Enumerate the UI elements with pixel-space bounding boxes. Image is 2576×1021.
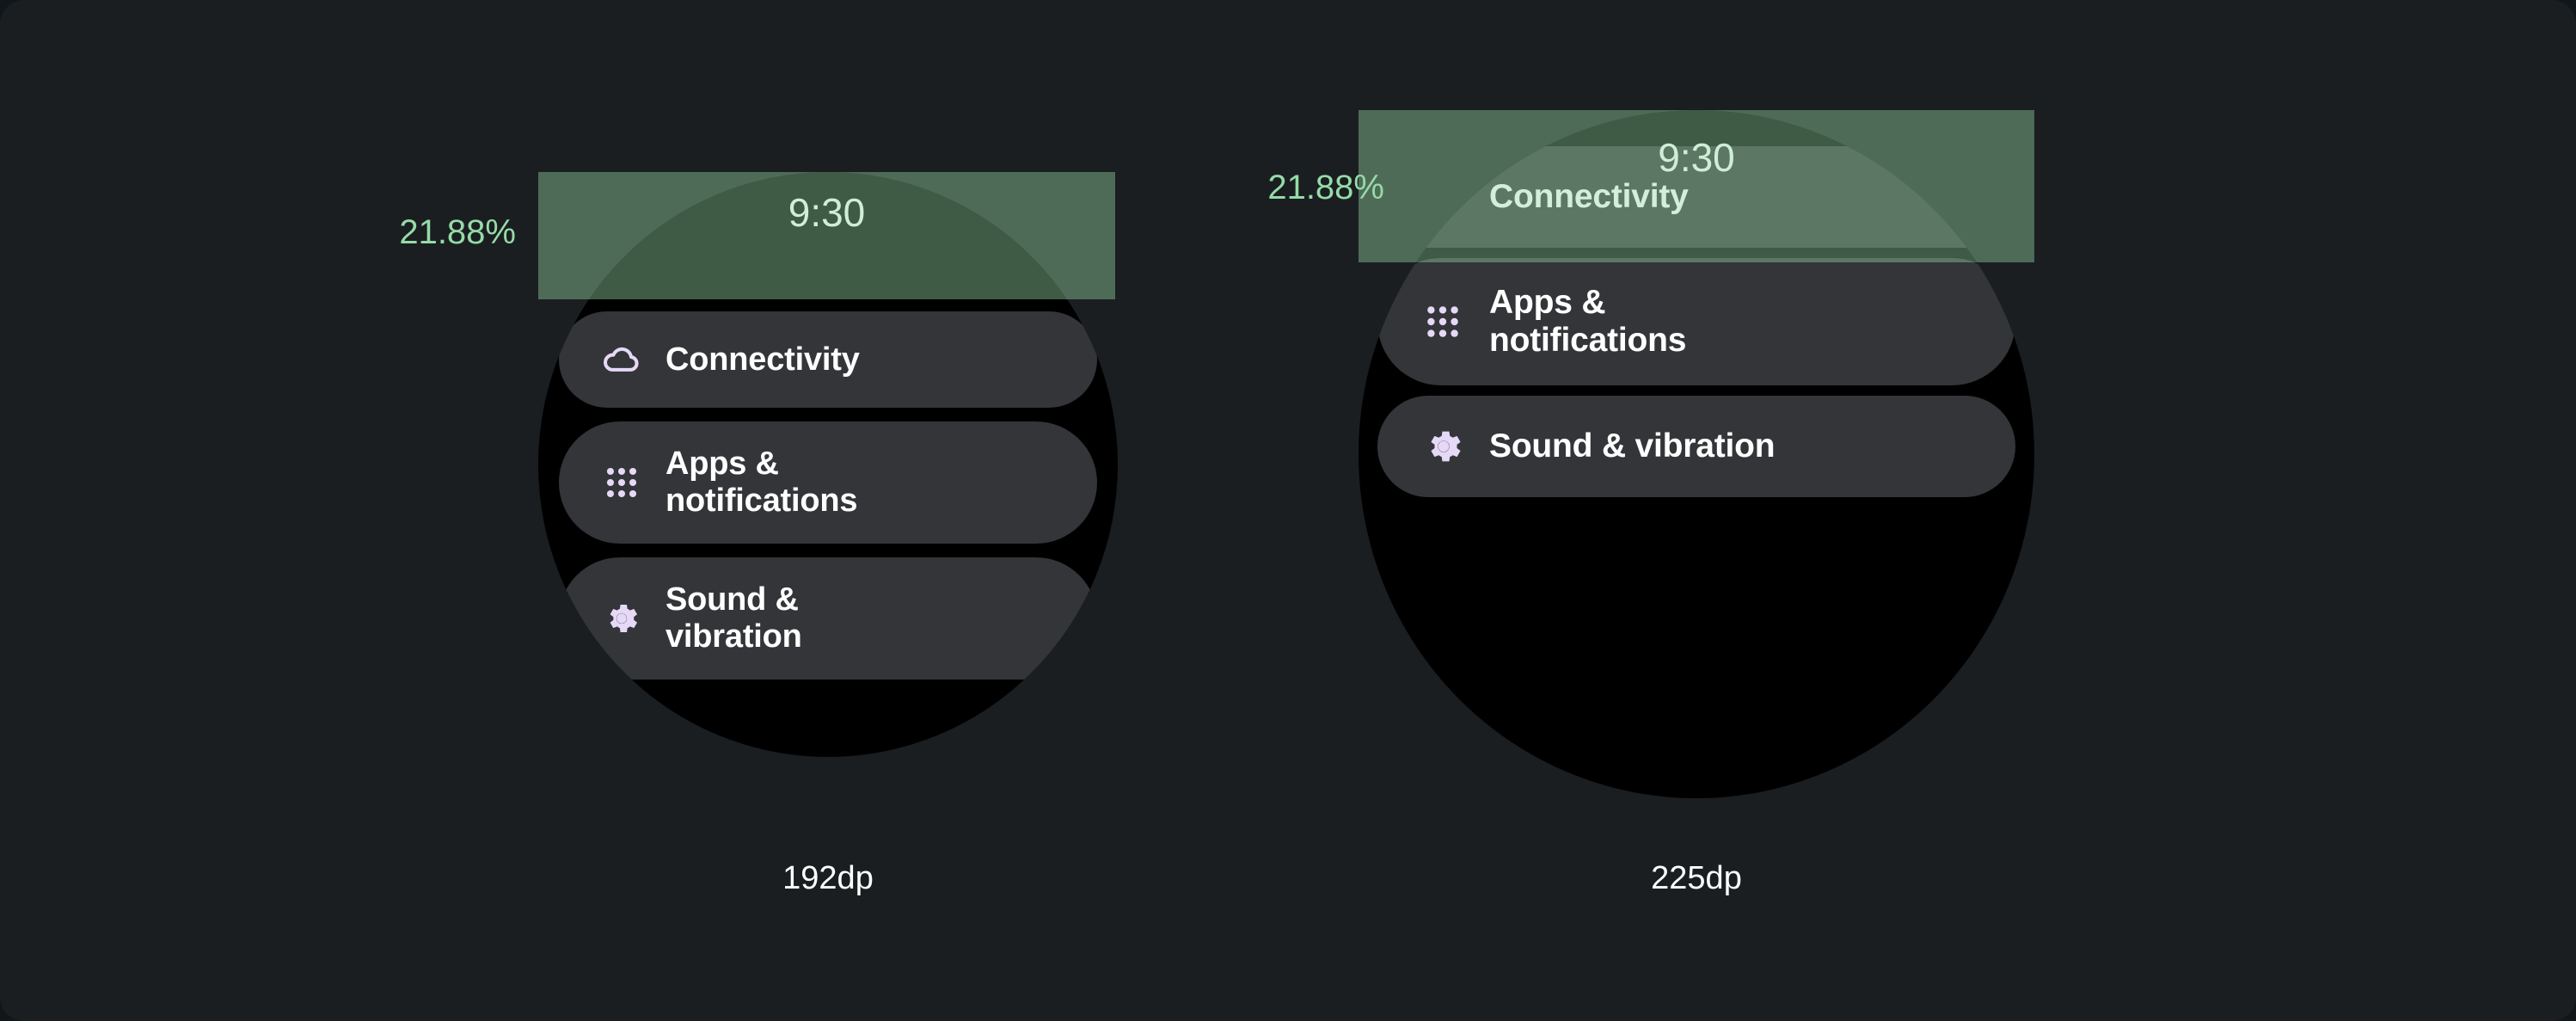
list-item-label: Connectivity: [665, 341, 860, 378]
settings-list-225: Connectivity: [1359, 110, 2034, 798]
list-item-sound-vibration[interactable]: Sound & vibration: [1377, 396, 2015, 497]
apps-grid-icon: [602, 463, 641, 502]
watch-stage-225: Connectivity: [1359, 110, 2034, 798]
gear-icon: [602, 599, 641, 638]
list-item-label: Connectivity: [1489, 178, 1689, 216]
watch-stage-192: Connectivity: [538, 172, 1118, 757]
watch-body-192: Connectivity: [538, 172, 1118, 757]
list-item-label: Apps & notifications: [1489, 284, 1686, 359]
list-item-apps-notifications[interactable]: Apps & notifications: [559, 421, 1097, 544]
watch-specimen-192: 21.88% Connectivity: [0, 0, 1290, 1021]
gear-icon: [1422, 425, 1465, 468]
size-label-192: 192dp: [656, 860, 1000, 897]
size-label-225: 225dp: [1524, 860, 1868, 897]
watch-specimen-225: 21.88% Connectivity: [1204, 0, 2576, 1021]
cloud-icon: [1422, 176, 1463, 218]
list-item-sound-vibration[interactable]: Sound & vibration: [559, 557, 1097, 680]
settings-list-192: Connectivity: [538, 172, 1118, 757]
screenshot-canvas: 21.88% Connectivity: [0, 0, 2576, 1021]
list-item-label: Apps & notifications: [665, 446, 857, 519]
list-item-connectivity[interactable]: Connectivity: [559, 311, 1097, 408]
list-item-label: Sound & vibration: [1489, 427, 1775, 465]
list-item-apps-notifications[interactable]: Apps & notifications: [1377, 258, 2015, 385]
percent-label-192: 21.88%: [258, 213, 516, 252]
watch-body-225: Connectivity: [1359, 110, 2034, 798]
list-item-connectivity[interactable]: Connectivity: [1377, 146, 2015, 248]
cloud-icon: [602, 340, 641, 379]
percent-label-225: 21.88%: [1126, 169, 1384, 207]
apps-grid-icon: [1422, 301, 1463, 342]
list-item-label: Sound & vibration: [665, 581, 802, 655]
